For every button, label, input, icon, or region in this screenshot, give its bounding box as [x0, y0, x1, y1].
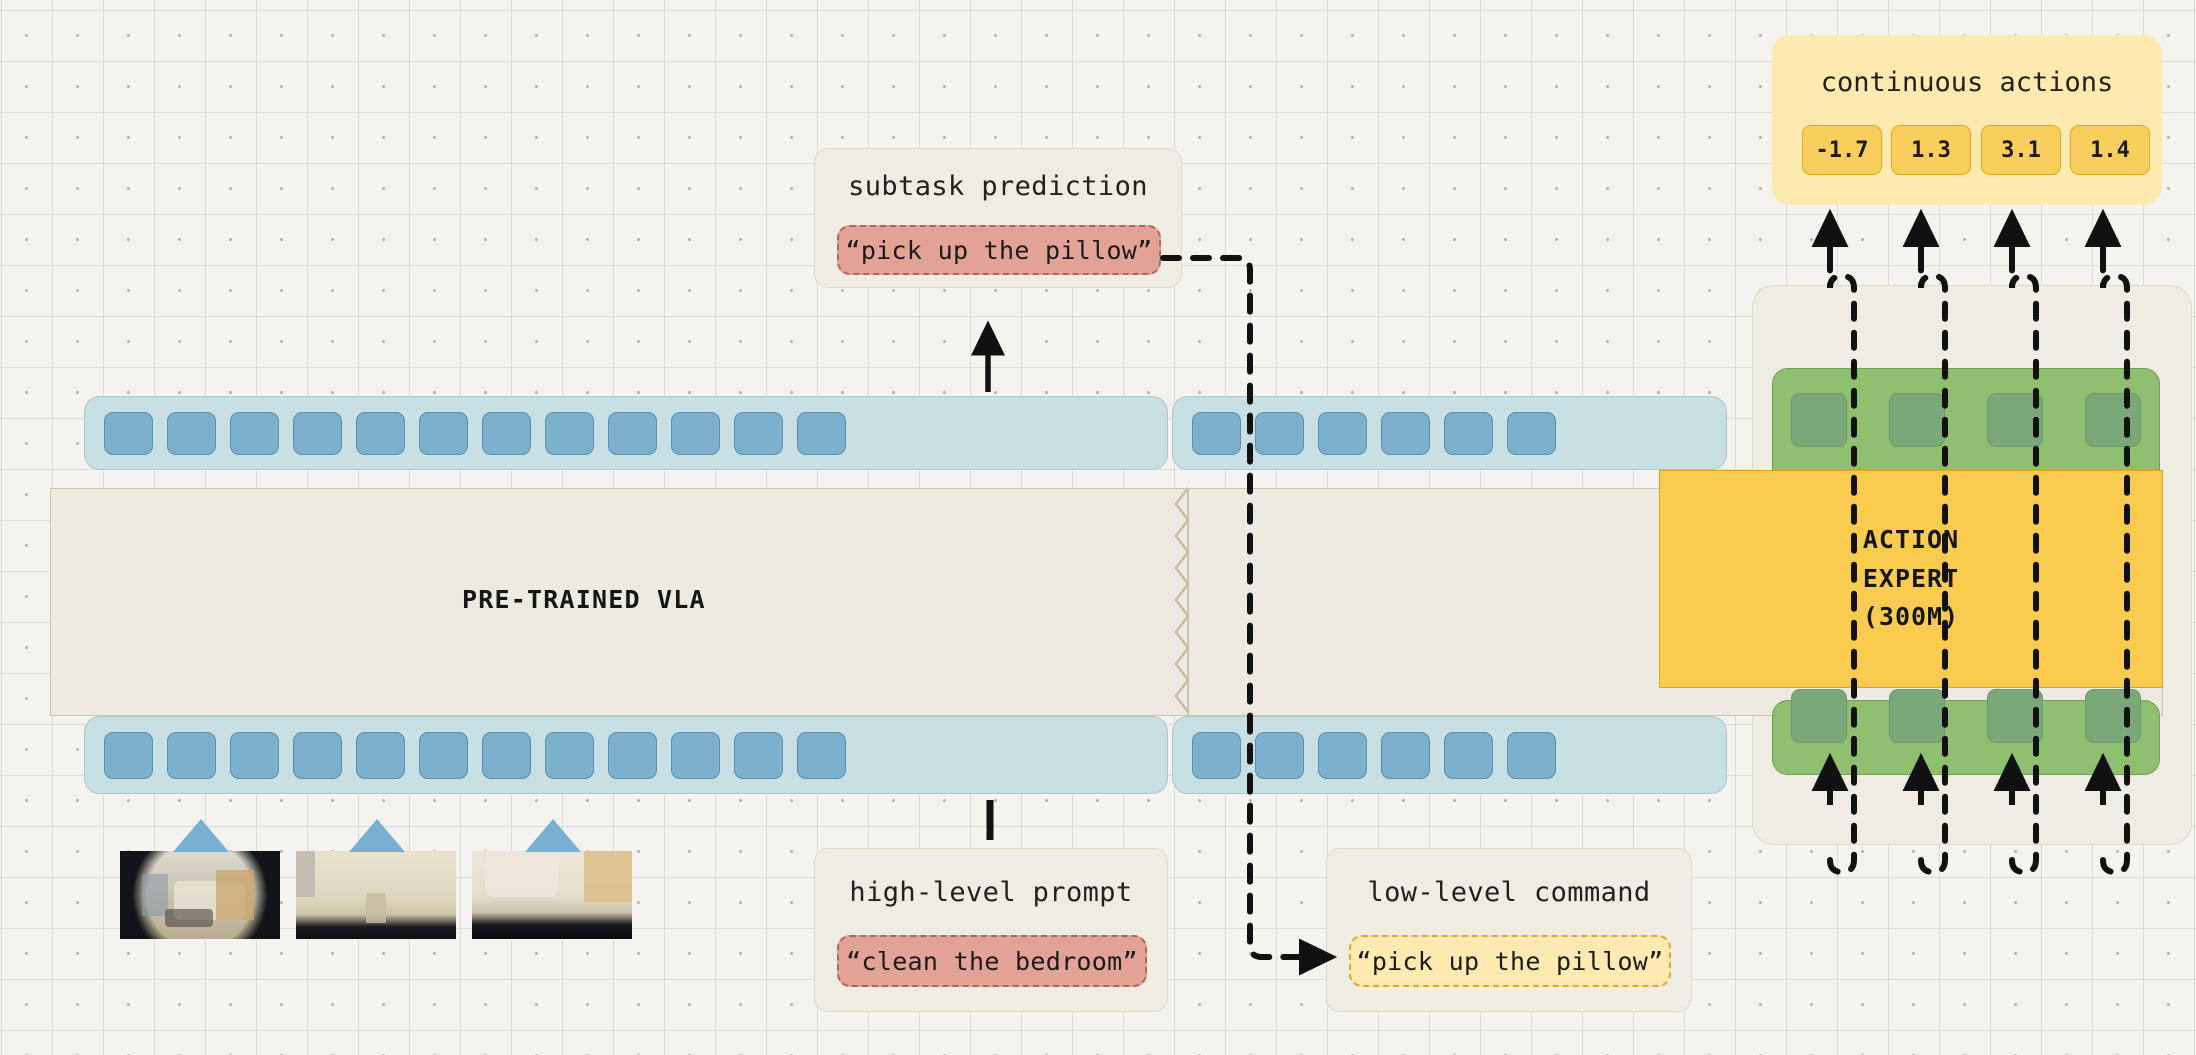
subtask-prediction-chip[interactable]: “pick up the pillow”	[837, 225, 1161, 275]
camera-view-1-image	[120, 851, 280, 939]
token-strip-bottom-right	[1172, 716, 1727, 794]
vla-token	[419, 412, 468, 455]
vla-token	[167, 732, 216, 779]
subtask-prediction-card: subtask prediction “pick up the pillow”	[814, 148, 1182, 288]
action-expert-box: ACTION EXPERT (300M)	[1659, 470, 2163, 688]
camera-view-2[interactable]	[296, 851, 456, 939]
continuous-action-chip[interactable]: 1.3	[1891, 125, 1971, 175]
camera-view-3[interactable]	[472, 851, 632, 939]
vla-token	[671, 412, 720, 455]
action-token	[1889, 393, 1945, 447]
vla-token	[1507, 732, 1556, 779]
vla-token	[1255, 412, 1304, 455]
vla-token	[230, 412, 279, 455]
action-token	[1987, 689, 2043, 743]
action-token	[1791, 393, 1847, 447]
action-expert-line-2: EXPERT	[1660, 560, 2162, 599]
vla-token	[797, 732, 846, 779]
continuous-actions-panel: continuous actions -1.71.33.11.4	[1772, 35, 2162, 205]
token-strip-bottom-left	[84, 716, 1168, 794]
vla-token	[419, 732, 468, 779]
low-level-command-card: low-level command “pick up the pillow”	[1326, 848, 1692, 1012]
subtask-prediction-title: subtask prediction	[815, 171, 1181, 202]
vla-token	[734, 732, 783, 779]
high-level-prompt-card: high-level prompt “clean the bedroom”	[814, 848, 1168, 1012]
action-token	[2085, 689, 2141, 743]
vla-label: PRE-TRAINED VLA	[462, 585, 706, 614]
continuous-action-chip[interactable]: -1.7	[1802, 125, 1882, 175]
triangle-marker-icon	[349, 819, 405, 852]
vla-token	[356, 412, 405, 455]
continuous-action-chip[interactable]: 3.1	[1981, 125, 2061, 175]
action-expert-line-3: (300M)	[1660, 598, 2162, 637]
token-strip-top-right	[1172, 396, 1727, 470]
vla-token	[167, 412, 216, 455]
vla-token	[1255, 732, 1304, 779]
high-level-prompt-title: high-level prompt	[815, 877, 1167, 908]
triangle-marker-icon	[173, 819, 229, 852]
vla-token	[1444, 732, 1493, 779]
triangle-marker-icon	[525, 819, 581, 852]
vla-token	[1192, 412, 1241, 455]
vla-token	[356, 732, 405, 779]
action-token	[1791, 689, 1847, 743]
vla-token	[608, 732, 657, 779]
vla-token	[1192, 732, 1241, 779]
action-expert-line-1: ACTION	[1660, 521, 2162, 560]
vla-token	[293, 412, 342, 455]
action-expert-band-bottom	[1772, 700, 2160, 775]
camera-view-2-image	[296, 851, 456, 939]
action-token	[1987, 393, 2043, 447]
vla-token	[1444, 412, 1493, 455]
token-strip-top-left	[84, 396, 1168, 470]
vla-token	[293, 732, 342, 779]
vla-token	[1507, 412, 1556, 455]
action-token	[2085, 393, 2141, 447]
vla-token	[1381, 732, 1430, 779]
vla-token	[545, 412, 594, 455]
vla-token	[230, 732, 279, 779]
vla-token	[482, 732, 531, 779]
vla-token	[671, 732, 720, 779]
vla-token	[104, 732, 153, 779]
vla-token	[1318, 412, 1367, 455]
vla-token	[1318, 732, 1367, 779]
high-level-prompt-chip[interactable]: “clean the bedroom”	[837, 935, 1147, 987]
vla-token	[797, 412, 846, 455]
low-level-command-chip[interactable]: “pick up the pillow”	[1349, 935, 1671, 987]
vla-token	[1381, 412, 1430, 455]
action-token	[1889, 689, 1945, 743]
continuous-action-chip[interactable]: 1.4	[2070, 125, 2150, 175]
vla-token	[734, 412, 783, 455]
camera-view-3-image	[472, 851, 632, 939]
vla-token	[104, 412, 153, 455]
low-level-command-title: low-level command	[1327, 877, 1691, 908]
continuous-actions-title: continuous actions	[1772, 67, 2162, 98]
vla-token	[545, 732, 594, 779]
vla-token	[608, 412, 657, 455]
camera-view-1[interactable]	[120, 851, 280, 939]
vla-token	[482, 412, 531, 455]
